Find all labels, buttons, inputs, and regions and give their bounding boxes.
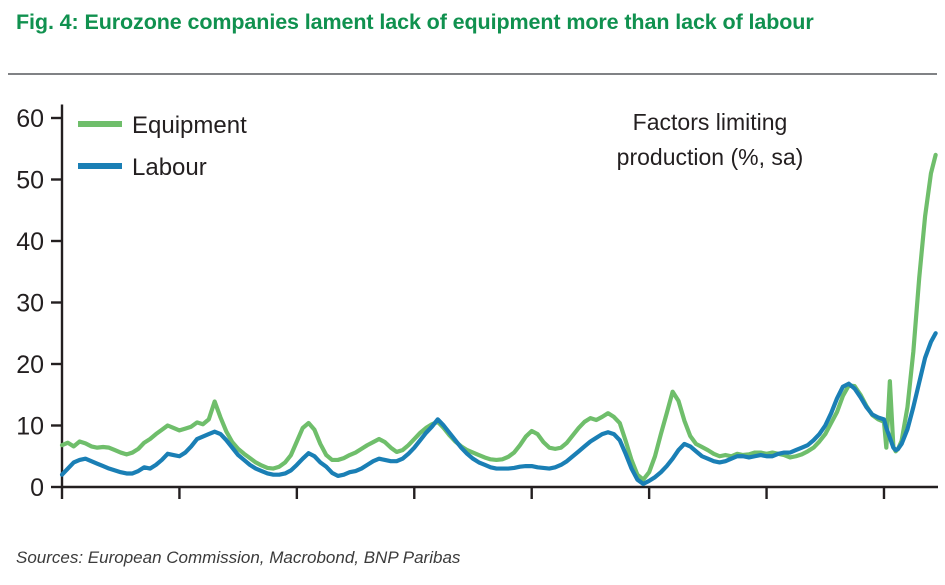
x-tick-label: 2015 — [739, 508, 795, 510]
y-tick-label: 20 — [16, 351, 44, 379]
line-chart: 0102030405060 19851990199520002005201020… — [0, 80, 945, 510]
y-tick-label: 10 — [16, 413, 44, 441]
x-tick-label: 2020 — [856, 508, 912, 510]
x-tick-label: 1995 — [269, 508, 325, 510]
chart-plot-area: 0102030405060 19851990199520002005201020… — [0, 80, 945, 510]
chart-series — [62, 155, 936, 484]
x-axis-ticks — [62, 487, 884, 499]
y-axis-labels: 0102030405060 — [16, 105, 44, 502]
y-tick-label: 30 — [16, 290, 44, 318]
x-tick-label: 1990 — [152, 508, 208, 510]
figure-title: Fig. 4: Eurozone companies lament lack o… — [16, 8, 931, 36]
legend-label-equipment: Equipment — [132, 112, 247, 139]
sources-note: Sources: European Commission, Macrobond,… — [16, 548, 460, 568]
y-tick-label: 0 — [30, 474, 44, 502]
figure-container: Fig. 4: Eurozone companies lament lack o… — [0, 0, 945, 585]
chart-legend: EquipmentLabour — [78, 112, 247, 181]
x-axis-labels: 19851990199520002005201020152020 — [34, 508, 912, 510]
legend-label-labour: Labour — [132, 154, 207, 181]
x-tick-label: 2000 — [386, 508, 442, 510]
annotation-line-1: Factors limiting — [633, 109, 788, 135]
x-tick-label: 1985 — [34, 508, 90, 510]
series-line-equipment — [62, 155, 936, 480]
x-tick-label: 2005 — [504, 508, 560, 510]
chart-annotation: Factors limitingproduction (%, sa) — [617, 109, 804, 170]
y-tick-label: 60 — [16, 105, 44, 133]
y-tick-label: 50 — [16, 167, 44, 195]
x-tick-label: 2010 — [621, 508, 677, 510]
annotation-line-2: production (%, sa) — [617, 144, 804, 170]
y-axis-ticks — [51, 118, 62, 487]
y-tick-label: 40 — [16, 228, 44, 256]
title-divider — [8, 73, 937, 75]
